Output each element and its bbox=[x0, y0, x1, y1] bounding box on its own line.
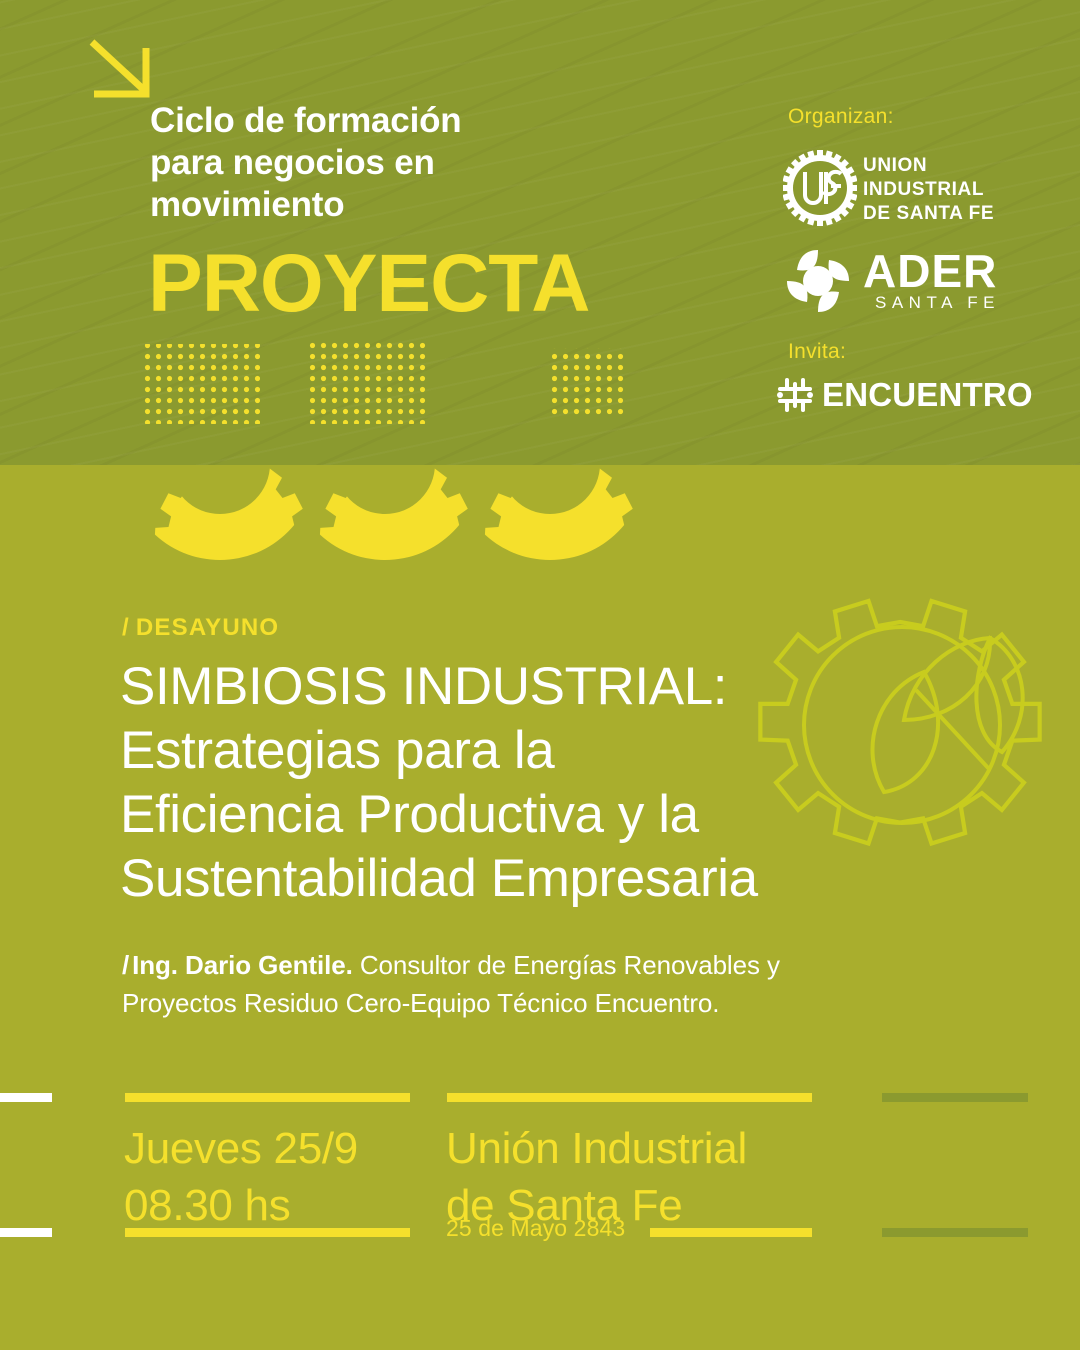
ader-subtitle: SANTA FE bbox=[875, 294, 1000, 311]
speaker-slash: / bbox=[122, 950, 129, 980]
brand-wordmark: PROYECTA bbox=[148, 243, 590, 325]
kicker-line-1: Ciclo de formación bbox=[150, 100, 670, 142]
title-line-2: Estrategias para la bbox=[120, 719, 950, 783]
uisf-text-block: UNION INDUSTRIAL DE SANTA FE bbox=[863, 154, 994, 226]
rule-date-top bbox=[125, 1093, 410, 1102]
uisf-gear-icon bbox=[783, 150, 857, 226]
organizers-label: Organizan: bbox=[788, 105, 894, 129]
category-text: DESAYUNO bbox=[136, 614, 279, 641]
title-line-3: Eficiencia Productiva y la bbox=[120, 783, 950, 847]
arrow-down-right-icon bbox=[88, 38, 160, 100]
title-line-1: SIMBIOSIS INDUSTRIAL: bbox=[120, 655, 950, 719]
speaker-role-2: Proyectos Residuo Cero-Equipo Técnico En… bbox=[122, 988, 719, 1018]
ader-pinwheel-icon bbox=[783, 246, 853, 316]
page-title: SIMBIOSIS INDUSTRIAL: Estrategias para l… bbox=[120, 655, 950, 912]
event-datetime: Jueves 25/9 08.30 hs bbox=[124, 1120, 424, 1234]
speaker-role-1: Consultor de Energías Renovables y bbox=[353, 950, 780, 980]
event-address: 25 de Mayo 2843 bbox=[446, 1215, 625, 1242]
title-line-4: Sustentabilidad Empresaria bbox=[120, 847, 950, 911]
rule-left-bottom bbox=[0, 1228, 52, 1237]
logo-uisf: UNION INDUSTRIAL DE SANTA FE bbox=[783, 150, 1053, 228]
rule-left-top bbox=[0, 1093, 52, 1102]
encuentro-grid-icon bbox=[776, 376, 814, 414]
uisf-line-2: INDUSTRIAL bbox=[863, 178, 994, 202]
speaker-name: Ing. Dario Gentile. bbox=[132, 950, 353, 980]
poster-canvas: Ciclo de formación para negocios en movi… bbox=[0, 0, 1080, 1350]
encuentro-name: ENCUENTRO bbox=[822, 376, 1033, 415]
rule-right-bottom bbox=[882, 1228, 1028, 1237]
logo-ader: ADER SANTA FE bbox=[783, 246, 1053, 318]
brand-number-360-gears bbox=[120, 318, 650, 568]
page-kicker: Ciclo de formación para negocios en movi… bbox=[150, 100, 670, 226]
category-slash: / bbox=[122, 614, 130, 641]
rule-right-top bbox=[882, 1093, 1028, 1102]
invita-label: Invita: bbox=[788, 340, 846, 364]
event-date: Jueves 25/9 bbox=[124, 1120, 424, 1177]
kicker-line-2: para negocios en bbox=[150, 142, 670, 184]
venue-line-1: Unión Industrial bbox=[446, 1120, 826, 1177]
uisf-line-3: DE SANTA FE bbox=[863, 202, 994, 226]
rule-venue-top bbox=[447, 1093, 812, 1102]
kicker-line-3: movimiento bbox=[150, 184, 670, 226]
speaker-credit: /Ing. Dario Gentile. Consultor de Energí… bbox=[122, 946, 912, 1022]
uisf-line-1: UNION bbox=[863, 154, 994, 178]
event-time: 08.30 hs bbox=[124, 1177, 424, 1234]
category-label: /DESAYUNO bbox=[122, 614, 279, 642]
logo-encuentro: ENCUENTRO bbox=[776, 376, 1006, 416]
ader-name: ADER bbox=[863, 248, 997, 294]
